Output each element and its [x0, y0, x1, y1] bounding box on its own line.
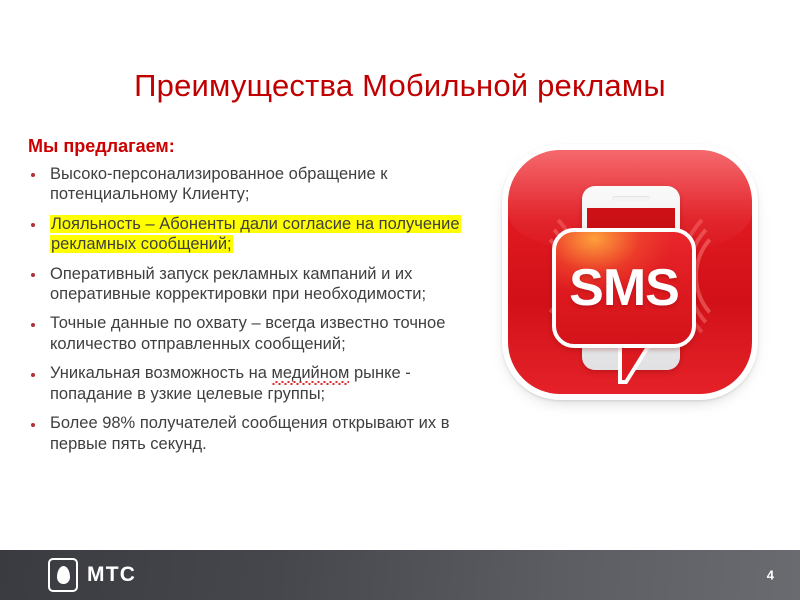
list-item-label-highlighted: Лояльность – Абоненты дали согласие на п… [50, 215, 461, 253]
bullet-dot-icon [31, 323, 35, 327]
bullet-dot-icon [31, 173, 35, 177]
list-item-label-part-before: Уникальная возможность на [50, 364, 272, 382]
list-item: Высоко-персонализированное обращение к п… [28, 164, 496, 205]
mts-egg-logo-icon [48, 558, 78, 592]
bullet-dot-icon [31, 223, 35, 227]
list-item-label: Более 98% получателей сообщения открываю… [50, 414, 449, 452]
list-item: Лояльность – Абоненты дали согласие на п… [28, 214, 496, 255]
sms-label: SMS [556, 232, 692, 344]
slide: Преимущества Мобильной рекламы Мы предла… [0, 0, 800, 600]
bullet-dot-icon [31, 423, 35, 427]
list-item-label: Точные данные по охвату – всегда известн… [50, 314, 445, 352]
page-number: 4 [767, 568, 774, 583]
bullet-dot-icon [31, 273, 35, 277]
bullet-dot-icon [31, 373, 35, 377]
list-item: Точные данные по охвату – всегда известн… [28, 313, 496, 354]
list-item-label: Высоко-персонализированное обращение к п… [50, 165, 388, 203]
mts-logo-text: МТС [87, 563, 136, 587]
list-item-label: Оперативный запуск рекламных кампаний и … [50, 265, 426, 303]
speech-bubble: SMS [552, 228, 696, 348]
list-item: Оперативный запуск рекламных кампаний и … [28, 264, 496, 305]
list-item: Более 98% получателей сообщения открываю… [28, 413, 496, 454]
phone-speaker [612, 196, 650, 201]
content-text-block: Мы предлагаем: Высоко-персонализированно… [28, 136, 496, 463]
sms-phone-illustration: SMS [496, 140, 764, 408]
egg-shape [57, 566, 70, 584]
footer-bar: МТС 4 [0, 550, 800, 600]
page-title: Преимущества Мобильной рекламы [0, 68, 800, 104]
list-item: Уникальная возможность на медийном рынке… [28, 363, 496, 404]
red-rounded-tile: SMS [508, 150, 752, 394]
benefits-list: Высоко-персонализированное обращение к п… [28, 164, 496, 454]
lead-in-text: Мы предлагаем: [28, 136, 496, 157]
mts-logo: МТС [48, 558, 136, 592]
